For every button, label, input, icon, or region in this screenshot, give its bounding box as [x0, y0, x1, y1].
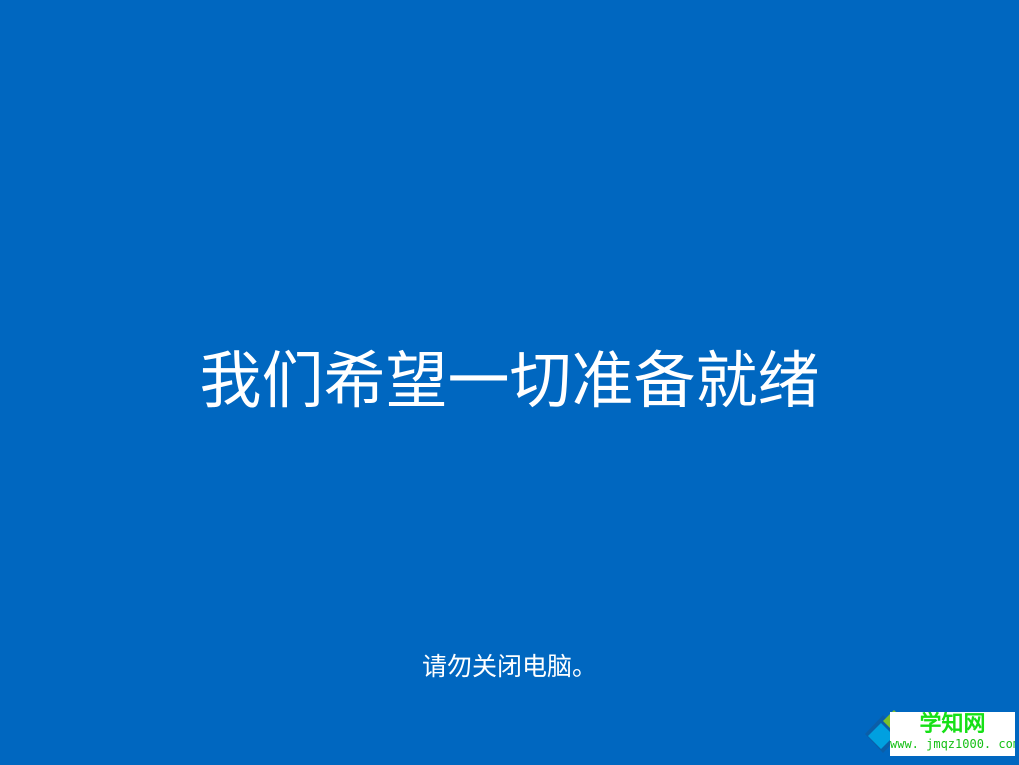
watermark-panel: 学知网 www. jmqz1000. com	[890, 712, 1015, 756]
setup-message-block: 我们希望一切准备就绪 请勿关闭电脑。	[0, 0, 1019, 765]
watermark: 学知网 www. jmqz1000. com	[863, 707, 1015, 759]
watermark-brand: 学知网	[890, 712, 1015, 738]
windows-setup-screen: 我们希望一切准备就绪 请勿关闭电脑。 学知网 www. jmqz1000. co…	[0, 0, 1019, 765]
setup-subline: 请勿关闭电脑。	[0, 650, 1019, 684]
setup-headline: 我们希望一切准备就绪	[0, 338, 1019, 424]
watermark-url: www. jmqz1000. com	[890, 737, 1015, 752]
